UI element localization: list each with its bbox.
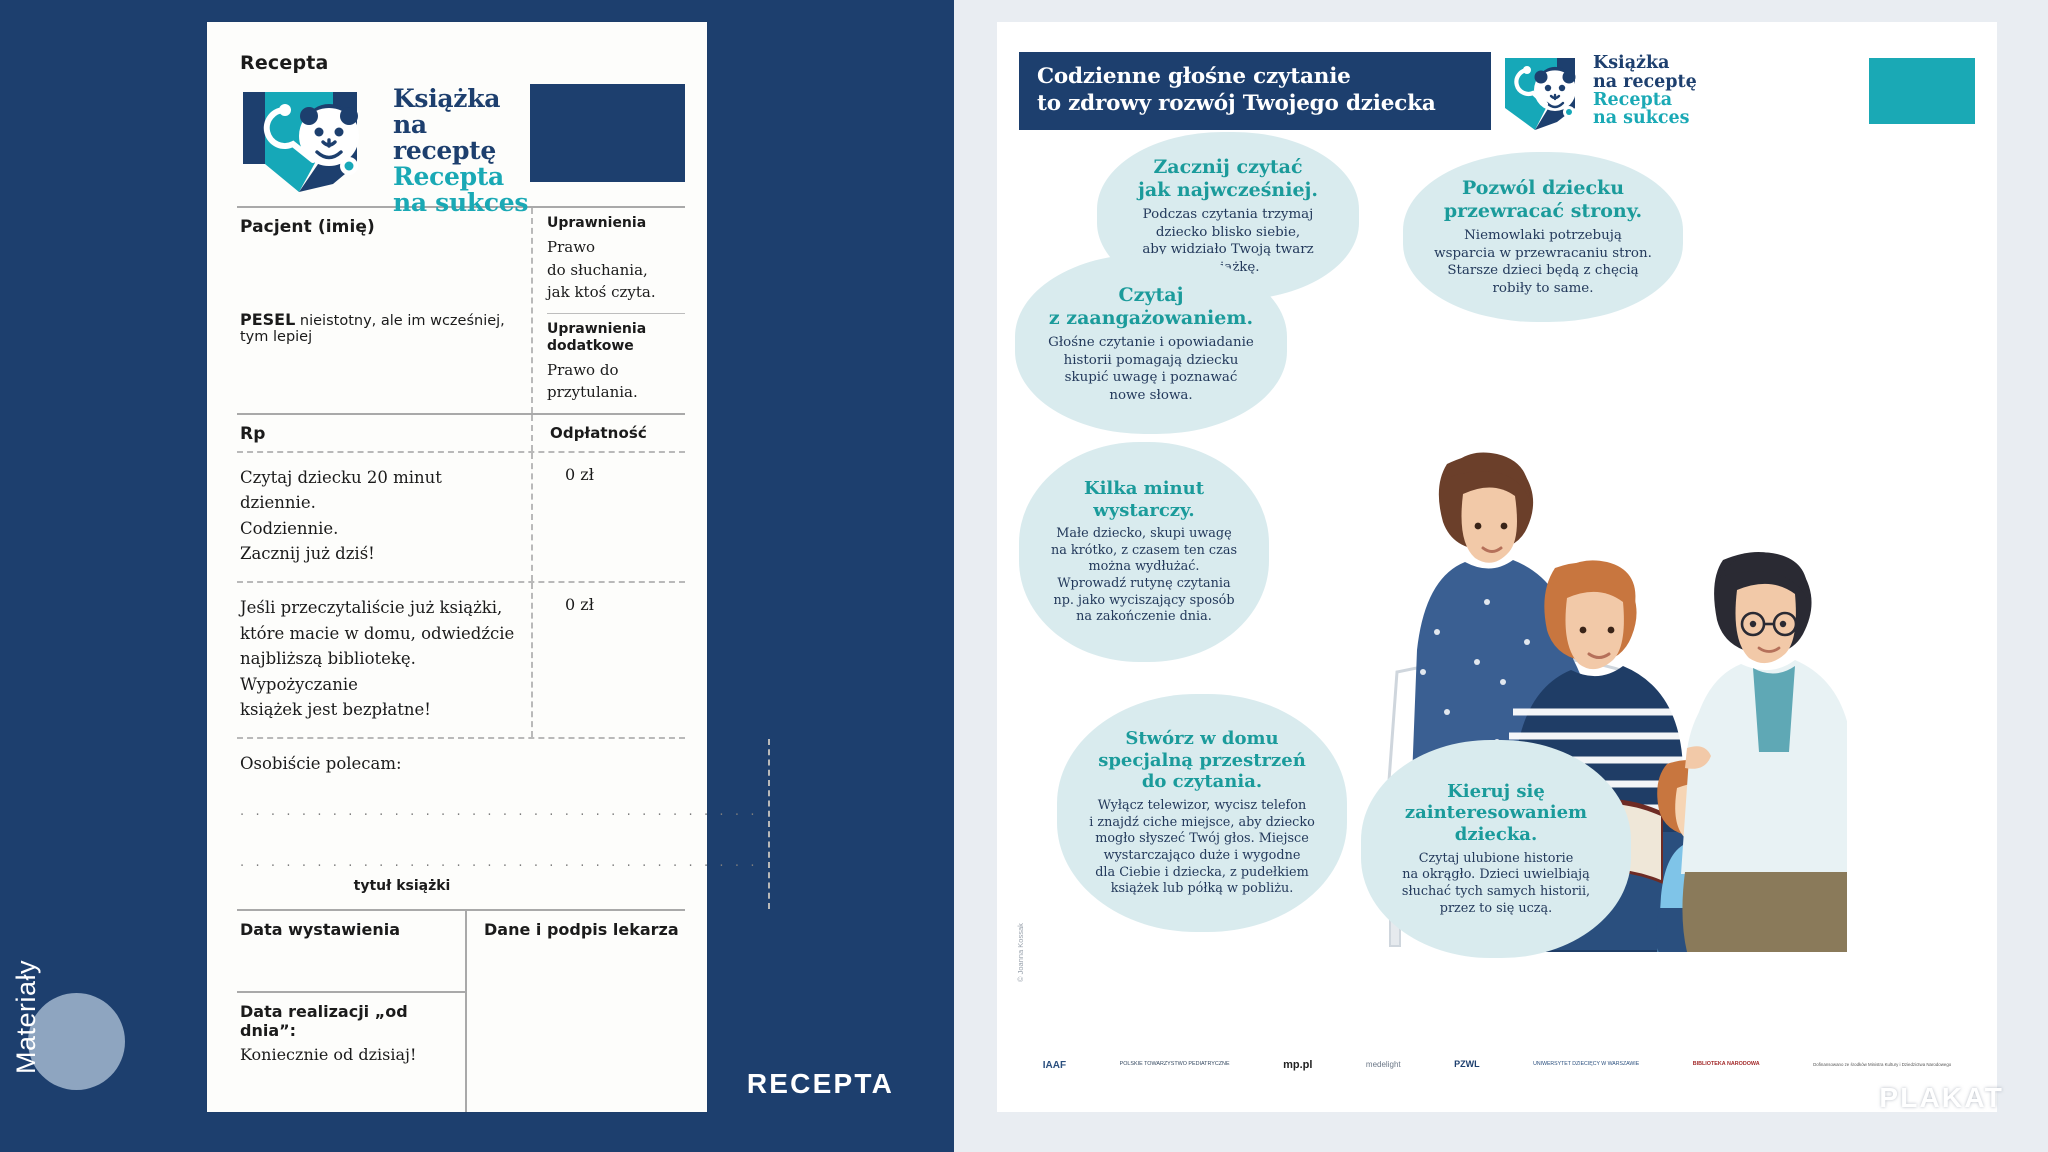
prescription-text: Jeśli przeczytaliście już książki, które… — [237, 583, 521, 737]
tip-body: Wyłącz telewizor, wycisz telefon i znajd… — [1071, 798, 1333, 898]
sponsor-logo: POLSKIE TOWARZYSTWO PEDIATRYCZNE — [1098, 1050, 1251, 1080]
sponsor-logo: UNIWERSYTET DZIECIĘCY W WARSZAWIE — [1511, 1050, 1661, 1080]
rights-extra-header: Uprawnienia dodatkowe — [547, 314, 685, 357]
prescription-card: Recepta — [207, 22, 707, 1112]
tip-title: Kilka minut wystarczy. — [1033, 478, 1255, 521]
sponsor-logo: mp.pl — [1261, 1050, 1334, 1080]
logo-line-3: Recepta — [393, 164, 530, 190]
materials-badge-circle — [28, 993, 125, 1090]
poster-logo-line-3: Recepta — [1593, 91, 1697, 109]
tip-title: Pozwól dziecku przewracać strony. — [1417, 177, 1669, 223]
write-line[interactable]: · · · · · · · · · · · · · · · · · · · · … — [237, 808, 758, 823]
prescription-price: 0 zł — [547, 583, 685, 614]
tip-body: Niemowlaki potrzebują wsparcia w przewra… — [1417, 227, 1669, 297]
tip-bubble: Stwórz w domu specjalną przestrzeń do cz… — [1057, 694, 1347, 932]
screenshot-stage: Recepta — [0, 0, 2048, 1152]
signature-section: Data wystawienia Data realizacji „od dni… — [237, 909, 685, 1112]
recommend-label: Osobiście polecam: — [237, 739, 758, 783]
bear-with-stethoscope-logo-icon — [1501, 52, 1587, 130]
tip-title: Czytaj z zaangażowaniem. — [1029, 284, 1273, 330]
pesel-label: PESEL nieistotny, ale im wcześniej, tym … — [237, 304, 521, 353]
tip-bubble: Czytaj z zaangażowaniem. Głośne czytanie… — [1015, 254, 1287, 434]
page-title: Recepta — [240, 52, 685, 74]
recepta-panel: Recepta — [0, 0, 954, 1152]
sponsor-logo: BIBLIOTEKA NARODOWA — [1671, 1050, 1781, 1080]
rights-extra-text: Prawo do przytulania. — [547, 357, 685, 413]
brand-logo: Książka na receptę Recepta na sukces — [237, 80, 685, 192]
plakat-caption: PLAKAT — [1879, 1082, 2004, 1114]
doctor-signature-label: Dane i podpis lekarza — [481, 911, 685, 939]
recommendation-row: Osobiście polecam: · · · · · · · · · · ·… — [237, 739, 685, 909]
recepta-caption: RECEPTA — [747, 1068, 894, 1100]
realization-date-label: Data realizacji „od dnia”: — [237, 993, 465, 1040]
tip-bubble: Kilka minut wystarczy. Małe dziecko, sku… — [1019, 442, 1269, 662]
logo-color-swatch — [530, 84, 685, 182]
sponsor-logo: PZWL — [1432, 1050, 1501, 1080]
tip-body: Głośne czytanie i opowiadanie historii p… — [1029, 334, 1273, 404]
rights-text: Prawo do słuchania, jak ktoś czyta. — [547, 234, 685, 313]
payment-label: Odpłatność — [547, 415, 685, 449]
illustration-credit: © Joanna Kossak — [1016, 923, 1025, 982]
sponsor-logo: Dofinansowano ze środków Ministra Kultur… — [1791, 1050, 1973, 1080]
tip-title: Kieruj się zainteresowaniem dziecka. — [1375, 781, 1617, 846]
prescription-text: Czytaj dziecku 20 minut dziennie. Codzie… — [237, 453, 521, 581]
sponsor-logos: IAAF POLSKIE TOWARZYSTWO PEDIATRYCZNE mp… — [1021, 1044, 1973, 1086]
patient-row: Pacjent (imię) PESEL nieistotny, ale im … — [237, 208, 685, 413]
sponsor-logo: IAAF — [1021, 1050, 1088, 1080]
prescription-row: Jeśli przeczytaliście już książki, które… — [237, 583, 685, 737]
rights-column: Uprawnienia Prawo do słuchania, jak ktoś… — [531, 208, 685, 413]
logo-line-2: na receptę — [393, 112, 530, 164]
bear-with-stethoscope-logo-icon — [237, 80, 387, 192]
patient-name-label: Pacjent (imię) — [237, 208, 521, 244]
pesel-bold: PESEL — [240, 310, 295, 329]
poster-header: Codzienne głośne czytanie to zdrowy rozw… — [1019, 52, 1975, 130]
prescription-row: Czytaj dziecku 20 minut dziennie. Codzie… — [237, 453, 685, 581]
tip-bubble: Pozwól dziecku przewracać strony. Niemow… — [1403, 152, 1683, 322]
poster-logo-line-2: na receptę — [1593, 73, 1697, 91]
poster-logo-line-1: Książka — [1593, 54, 1697, 72]
tip-bubble: Kieruj się zainteresowaniem dziecka. Czy… — [1361, 740, 1631, 958]
realization-date-value: Koniecznie od dzisiaj! — [237, 1040, 465, 1064]
logo-line-1: Książka — [393, 86, 530, 112]
sponsor-logo: medelight — [1344, 1050, 1422, 1080]
write-line[interactable]: · · · · · · · · · · · · · · · · · · · · … — [237, 859, 758, 874]
rp-header-row: Rp Odpłatność — [237, 415, 685, 451]
headline-line-1: Codzienne głośne czytanie — [1037, 64, 1491, 91]
poster-logo-line-4: na sukces — [1593, 109, 1697, 127]
tip-title: Zacznij czytać jak najwcześniej. — [1111, 156, 1345, 202]
issue-date-label: Data wystawienia — [237, 911, 465, 939]
book-title-label: tytuł książki — [277, 874, 527, 904]
poster-color-swatch — [1869, 58, 1975, 124]
poster-headline: Codzienne głośne czytanie to zdrowy rozw… — [1019, 52, 1491, 130]
poster-card: Codzienne głośne czytanie to zdrowy rozw… — [997, 22, 1997, 1112]
prescription-price: 0 zł — [547, 453, 685, 484]
tip-body: Małe dziecko, skupi uwagę na krótko, z c… — [1033, 526, 1255, 626]
rp-label: Rp — [237, 415, 521, 451]
plakat-panel: Codzienne głośne czytanie to zdrowy rozw… — [954, 0, 2048, 1152]
headline-line-2: to zdrowy rozwój Twojego dziecka — [1037, 91, 1491, 118]
materials-badge-label: Materiały — [11, 960, 42, 1074]
prescription-table: Pacjent (imię) PESEL nieistotny, ale im … — [237, 206, 685, 1112]
rights-header: Uprawnienia — [547, 208, 685, 234]
tip-body: Czytaj ulubione historie na okrągło. Dzi… — [1375, 851, 1617, 918]
tip-title: Stwórz w domu specjalną przestrzeń do cz… — [1071, 728, 1333, 793]
